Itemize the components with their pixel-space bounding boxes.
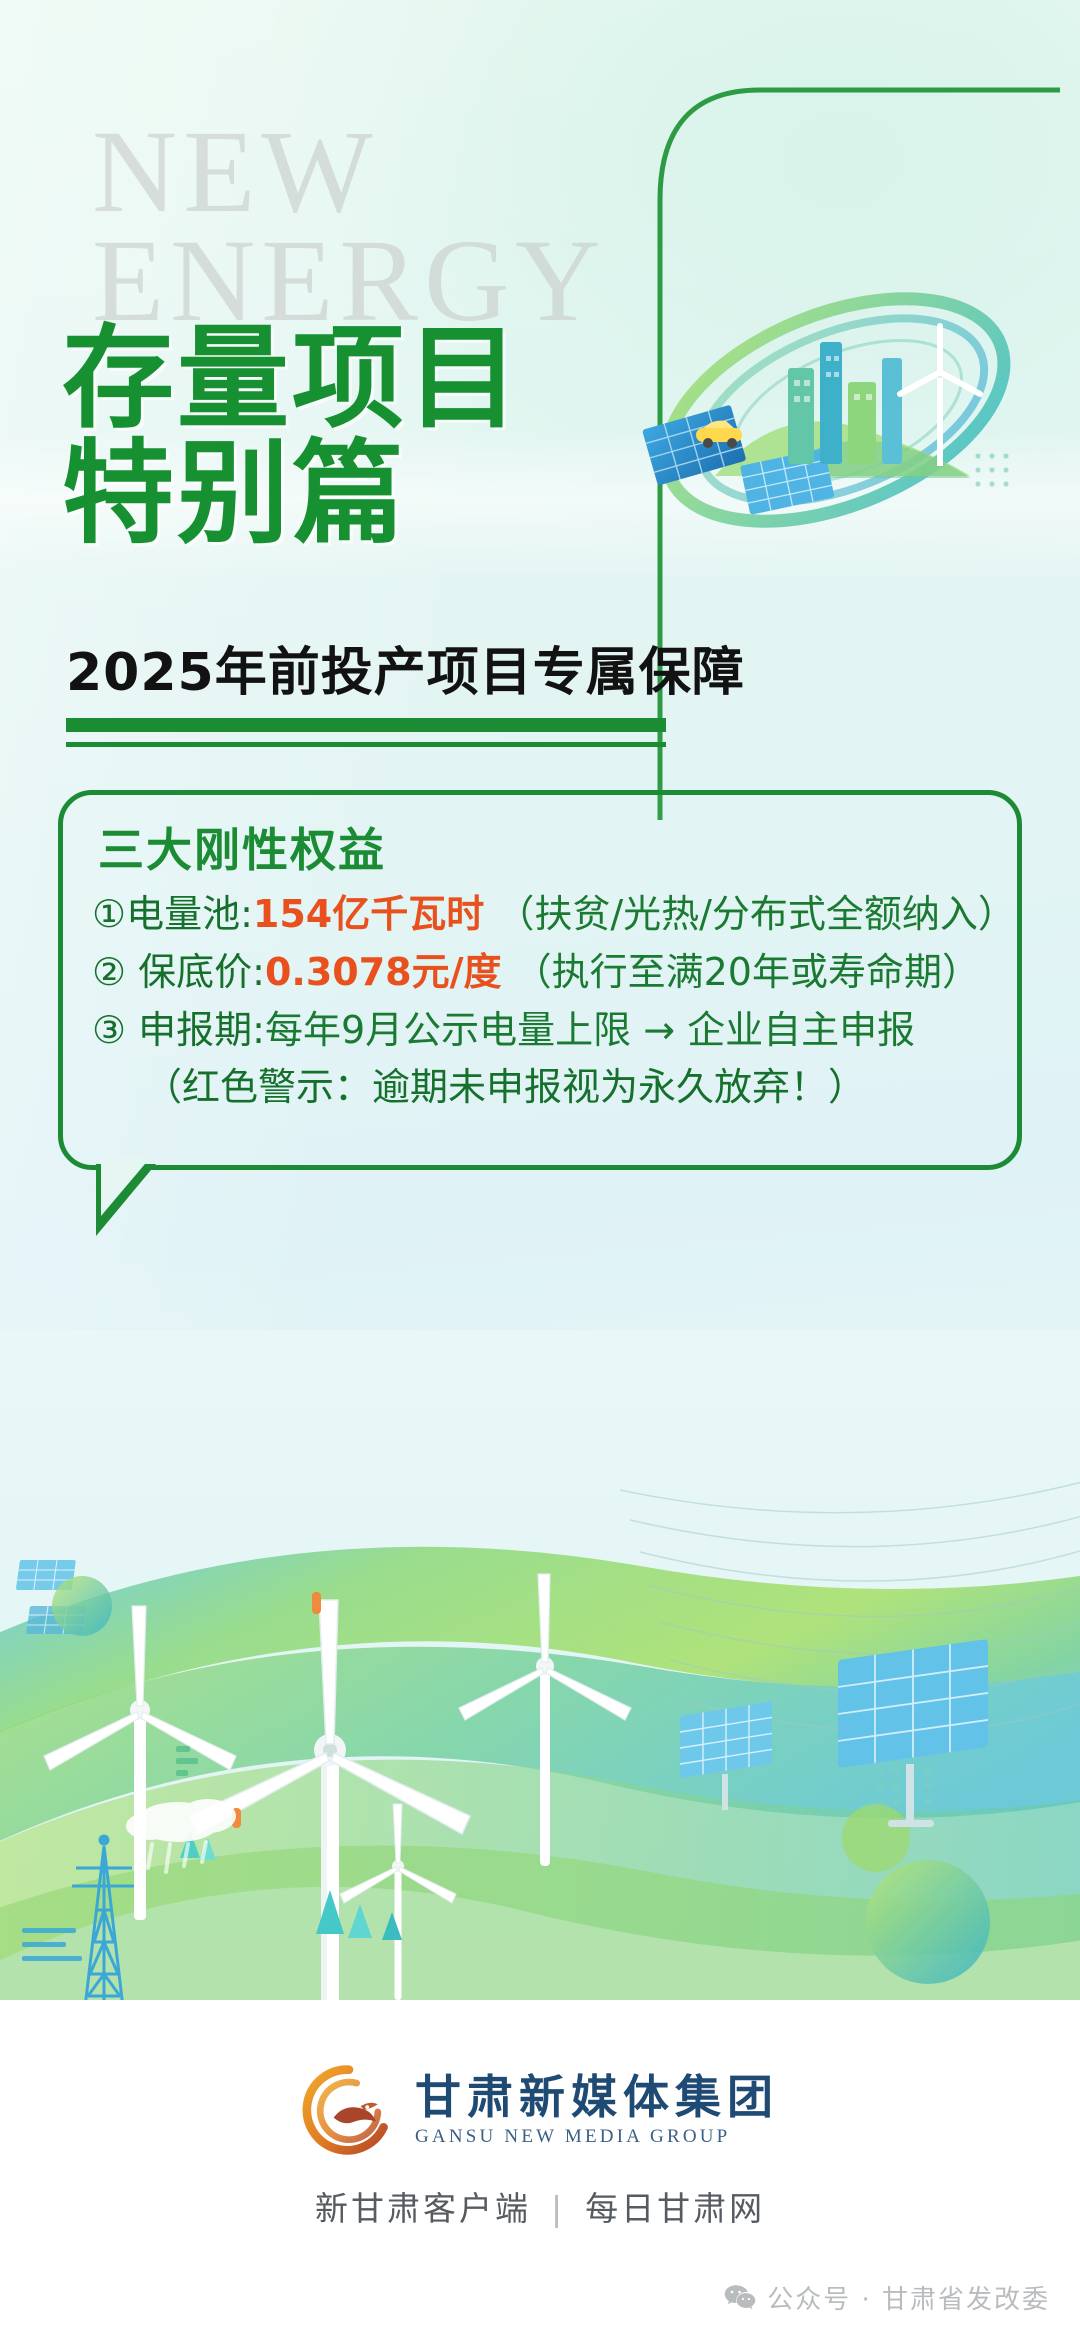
item-index-1: ① — [92, 892, 126, 936]
item-index-3: ③ — [92, 1008, 126, 1052]
headline-line-2: 特别篇 — [62, 437, 522, 552]
page-title: 存量项目 特别篇 — [62, 322, 522, 553]
brand-name-en: GANSU NEW MEDIA GROUP — [415, 2126, 779, 2148]
list-item: ② 保底价:0.3078元/度 （执行至满20年或寿命期） — [92, 944, 992, 1002]
wechat-icon — [723, 2283, 757, 2313]
poster-root: NEW ENERGY — [0, 0, 1080, 2340]
item-label-1: 电量池: — [126, 892, 253, 936]
item-highlight-2: 0.3078元/度 — [265, 950, 502, 994]
footer-channels: 新甘肃客户端|每日甘肃网 — [0, 2182, 1080, 2230]
landscape-illustration — [0, 1330, 1080, 2000]
channel-separator: | — [551, 2189, 565, 2228]
item-label-2: 保底价: — [138, 950, 265, 994]
divider-thick — [66, 718, 666, 732]
benefits-panel: 三大刚性权益 ①电量池:154亿千瓦时 （扶贫/光热/分布式全额纳入） ② 保底… — [58, 790, 1022, 1220]
subtitle: 2025年前投产项目专属保障 — [66, 630, 745, 705]
item-note-1: （扶贫/光热/分布式全额纳入） — [496, 892, 1016, 936]
item-note-2: （执行至满20年或寿命期） — [514, 950, 980, 994]
hero-energy-illustration — [620, 280, 1040, 560]
channel-web: 每日甘肃网 — [585, 2189, 765, 2228]
list-item: ①电量池:154亿千瓦时 （扶贫/光热/分布式全额纳入） — [92, 886, 992, 944]
panel-title: 三大刚性权益 — [98, 814, 386, 880]
divider-thin — [66, 742, 666, 747]
wechat-watermark: 公众号 · 甘肃省发改委 — [723, 2279, 1050, 2316]
item-index-2: ② — [92, 950, 126, 994]
item-note-3: 每年9月公示电量上限 → 企业自主申报 — [265, 1008, 915, 1052]
brand-name-cn: 甘肃新媒体集团 — [415, 2072, 779, 2123]
item-highlight-1: 154亿千瓦时 — [253, 892, 484, 936]
brand-logo-text: 甘肃新媒体集团 GANSU NEW MEDIA GROUP — [415, 2072, 779, 2149]
warning-note: （红色警示：逾期未申报视为永久放弃！） — [92, 1059, 992, 1117]
list-item: ③ 申报期:每年9月公示电量上限 → 企业自主申报 — [92, 1002, 992, 1060]
wechat-watermark-text: 公众号 · 甘肃省发改委 — [767, 2279, 1050, 2316]
channel-app: 新甘肃客户端 — [315, 2189, 531, 2228]
brand-logo-row: 甘肃新媒体集团 GANSU NEW MEDIA GROUP — [0, 2062, 1080, 2158]
headline-line-1: 存量项目 — [62, 314, 522, 444]
item-label-3: 申报期: — [138, 1008, 265, 1052]
gansu-media-logo-icon — [301, 2062, 397, 2158]
footer: 甘肃新媒体集团 GANSU NEW MEDIA GROUP 新甘肃客户端|每日甘… — [0, 2000, 1080, 2340]
benefits-list: ①电量池:154亿千瓦时 （扶贫/光热/分布式全额纳入） ② 保底价:0.307… — [92, 886, 992, 1117]
speech-bubble-tail-inner — [101, 1158, 150, 1216]
